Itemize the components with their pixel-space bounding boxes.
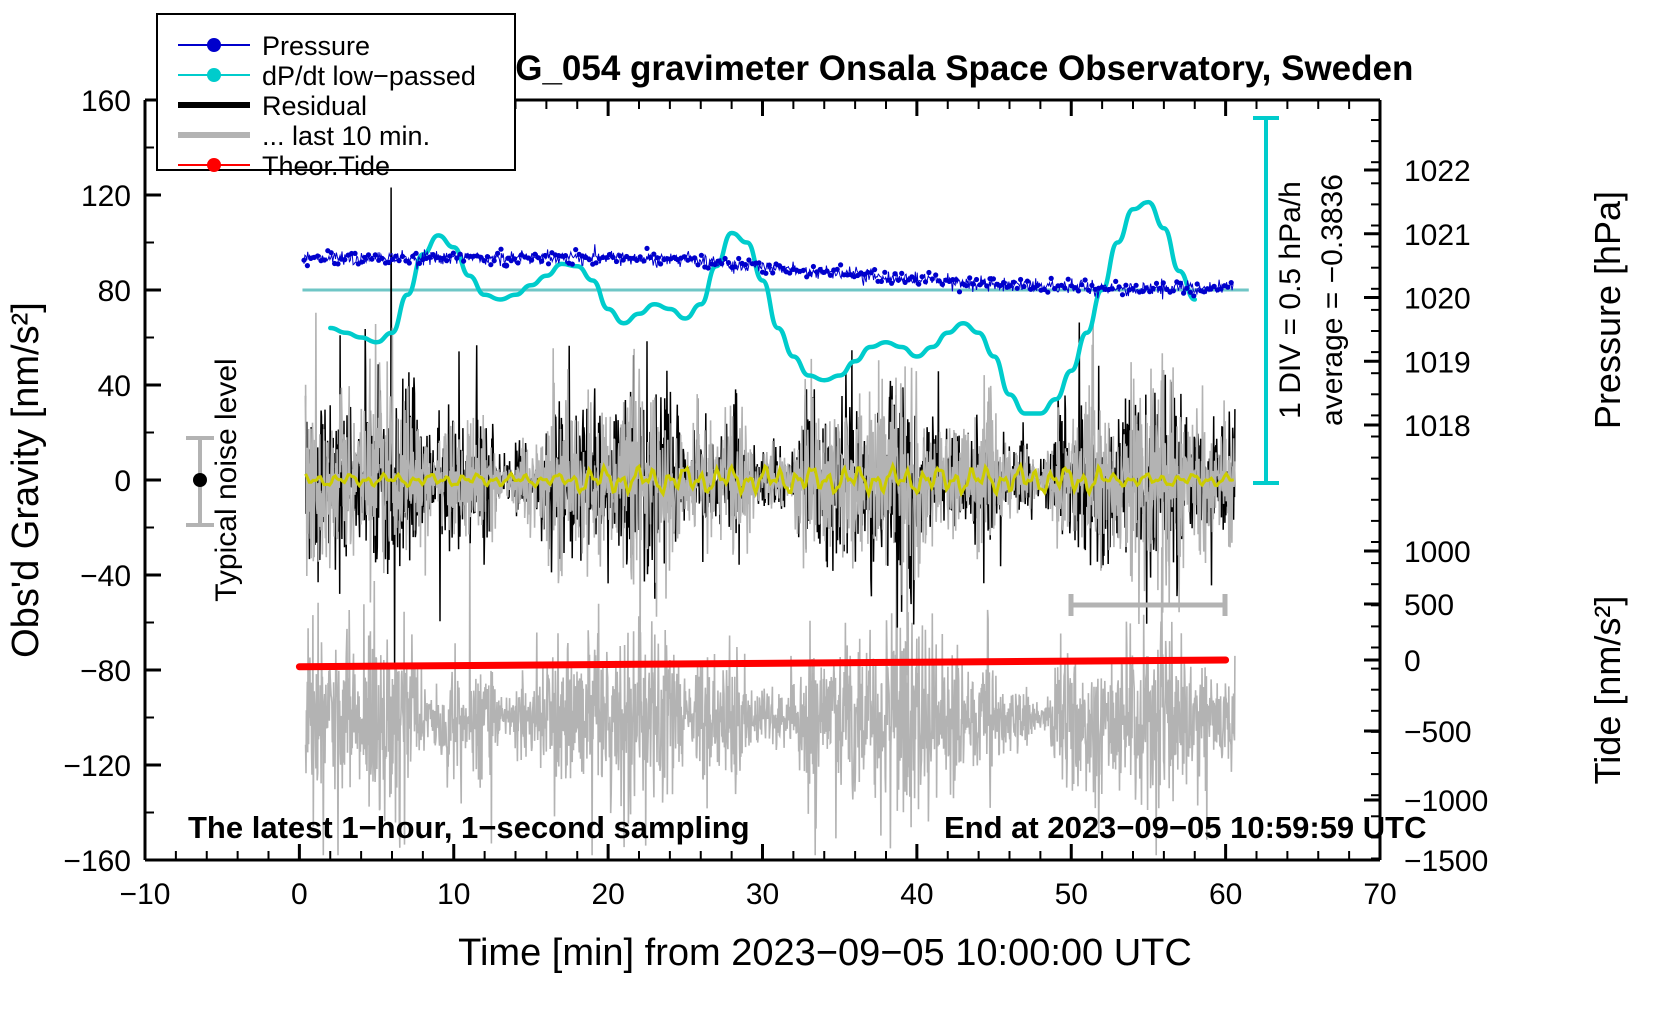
page-title: SCG_054 gravimeter Onsala Space Observat… <box>467 49 1414 88</box>
x-tick-label: 0 <box>291 878 308 911</box>
y-right-tide-tick-label: −1500 <box>1404 845 1488 878</box>
y-left-tick-label: −160 <box>63 845 131 878</box>
dpdt-average-label: average = −0.3836 <box>1316 174 1349 426</box>
y-left-tick-label: −40 <box>80 560 131 593</box>
footer-left-text: The latest 1−hour, 1−second sampling <box>188 810 750 845</box>
x-tick-label: 30 <box>746 878 779 911</box>
legend-label: Theor.Tide <box>262 151 390 181</box>
plot-svg: −10010203040506070 16012080400−40−80−120… <box>0 0 1660 1020</box>
footer-right-text: End at 2023−09−05 10:59:59 UTC <box>944 810 1427 845</box>
y-left-axis-title: Obs'd Gravity [nm/s²] <box>5 302 47 658</box>
typical-noise-level-label: Typical noise level <box>210 358 243 601</box>
legend-label: ... last 10 min. <box>262 121 430 151</box>
dpdt-scale-label: 1 DIV = 0.5 hPa/h <box>1274 181 1307 419</box>
legend: PressuredP/dt low−passedResidual... last… <box>157 14 515 181</box>
y-right-pressure-tick-label: 1019 <box>1404 346 1471 379</box>
y-right-tide-tick-label: 500 <box>1404 589 1454 622</box>
y-left-tick-label: 0 <box>114 465 131 498</box>
y-left-tick-label: −120 <box>63 750 131 783</box>
legend-label: Residual <box>262 91 367 121</box>
y-left-tick-label: 160 <box>81 85 131 118</box>
y-left-tick-label: 80 <box>98 275 131 308</box>
y-right-tide-tick-label: 1000 <box>1404 536 1471 569</box>
y-right-pressure-tick-label: 1021 <box>1404 219 1471 252</box>
x-tick-label: 60 <box>1209 878 1242 911</box>
legend-label: Pressure <box>262 31 370 61</box>
y-right-pressure-axis-title: Pressure [hPa] <box>1587 191 1628 429</box>
y-right-pressure-tick-label: 1018 <box>1404 410 1471 443</box>
x-tick-label: 20 <box>591 878 624 911</box>
x-tick-label: 40 <box>900 878 933 911</box>
noise-center-dot <box>193 473 207 487</box>
y-right-tide-tick-label: 0 <box>1404 645 1421 678</box>
y-right-tide-tick-label: −500 <box>1404 716 1472 749</box>
y-left-tick-label: 120 <box>81 180 131 213</box>
y-left-tick-label: 40 <box>98 370 131 403</box>
legend-marker <box>207 158 221 172</box>
legend-marker <box>207 68 221 82</box>
y-left-tick-label: −80 <box>80 655 131 688</box>
figure-root: −10010203040506070 16012080400−40−80−120… <box>0 0 1660 1020</box>
legend-marker <box>207 38 221 52</box>
y-right-pressure-tick-label: 1020 <box>1404 283 1471 316</box>
y-right-pressure-tick-label: 1022 <box>1404 155 1471 188</box>
y-right-tide-axis-title: Tide [nm/s²] <box>1587 596 1628 785</box>
x-tick-label: 50 <box>1055 878 1088 911</box>
x-tick-label: 70 <box>1363 878 1396 911</box>
x-axis-title: Time [min] from 2023−09−05 10:00:00 UTC <box>458 932 1192 974</box>
x-tick-label: −10 <box>120 878 171 911</box>
x-tick-label: 10 <box>437 878 470 911</box>
legend-label: dP/dt low−passed <box>262 61 476 91</box>
